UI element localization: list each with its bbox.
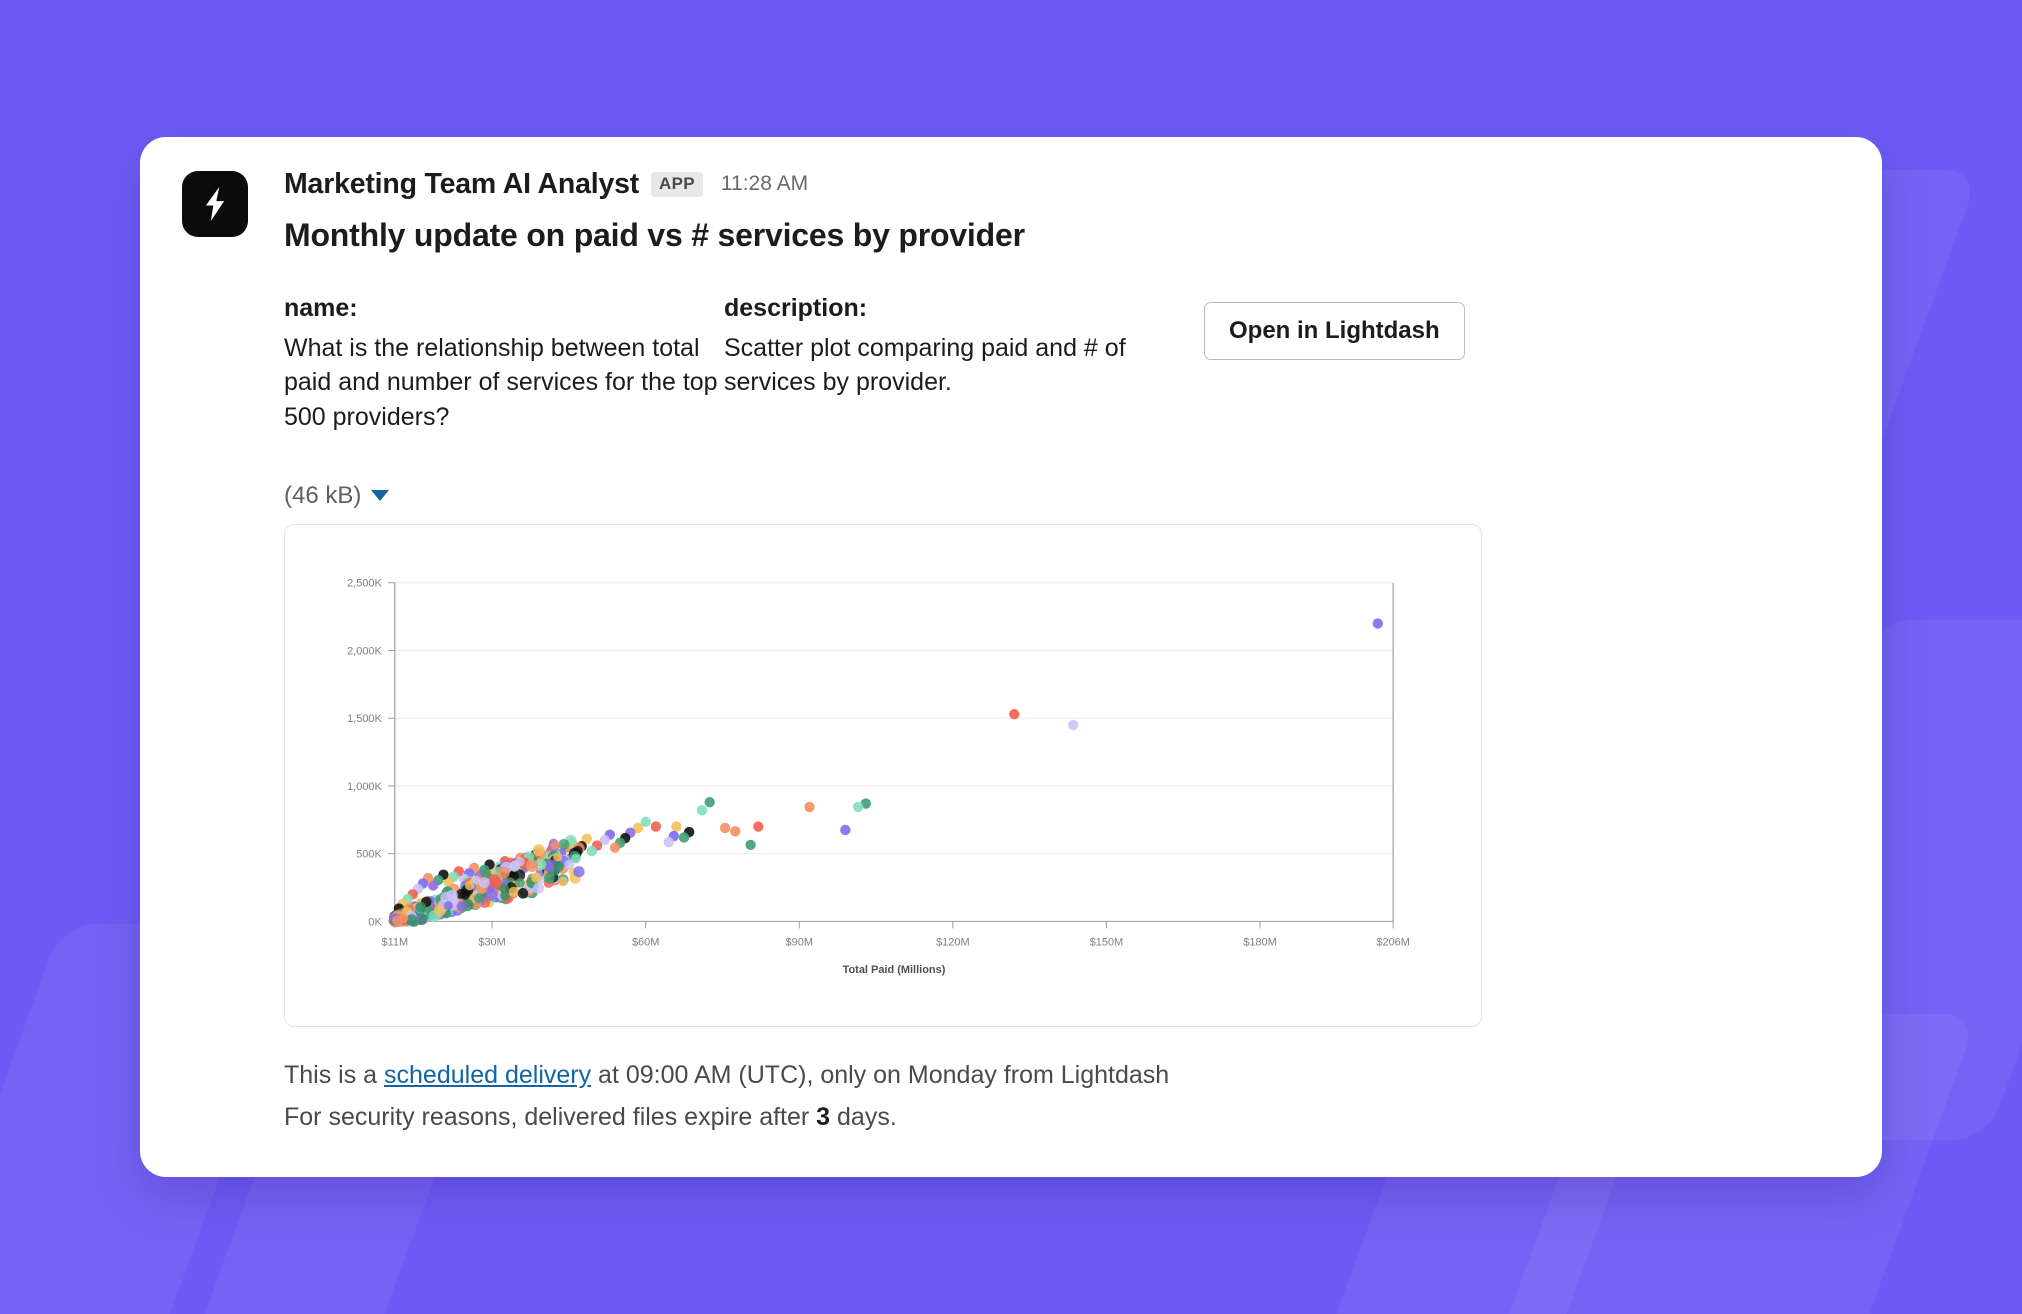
svg-text:$90M: $90M [786, 936, 813, 948]
message-timestamp[interactable]: 11:28 AM [721, 172, 808, 196]
message-body: Marketing Team AI Analyst APP 11:28 AM M… [284, 167, 2010, 1135]
footer-line-2: For security reasons, delivered files ex… [284, 1099, 2010, 1135]
open-in-lightdash-button[interactable]: Open in Lightdash [1204, 302, 1465, 360]
svg-text:$11M: $11M [382, 936, 409, 948]
chevron-down-icon[interactable] [371, 490, 389, 501]
footer-prefix: This is a [284, 1061, 384, 1089]
svg-text:$206M: $206M [1376, 936, 1410, 948]
svg-text:$30M: $30M [478, 936, 505, 948]
chart-attachment[interactable]: 0K500K1,000K1,500K2,000K2,500K$11M$30M$6… [284, 524, 1482, 1027]
footer-expiry-days: 3 [816, 1103, 830, 1131]
svg-text:$150M: $150M [1090, 936, 1124, 948]
fields-row: name: What is the relationship between t… [284, 294, 2010, 434]
field-name-value: What is the relationship between total p… [284, 331, 724, 434]
footer-suffix: at 09:00 AM (UTC), only on Monday from L… [591, 1061, 1169, 1089]
svg-text:$120M: $120M [936, 936, 970, 948]
app-badge: APP [651, 172, 703, 197]
footer-expiry-suffix: days. [830, 1103, 897, 1131]
footer-expiry-prefix: For security reasons, delivered files ex… [284, 1103, 816, 1131]
svg-text:1,000K: 1,000K [347, 781, 382, 793]
scatter-plot: 0K500K1,000K1,500K2,000K2,500K$11M$30M$6… [285, 525, 1481, 1026]
slack-message-card: Marketing Team AI Analyst APP 11:28 AM M… [140, 137, 1882, 1177]
attachment-toggle-row: (46 kB) [284, 482, 2010, 510]
actions: Open in Lightdash [1204, 294, 2010, 360]
field-description-label: description: [724, 294, 1204, 323]
field-description: description: Scatter plot comparing paid… [724, 294, 1204, 400]
field-description-value: Scatter plot comparing paid and # of ser… [724, 331, 1204, 400]
svg-text:500K: 500K [356, 848, 382, 860]
svg-text:$180M: $180M [1243, 936, 1277, 948]
field-name: name: What is the relationship between t… [284, 294, 724, 434]
field-name-label: name: [284, 294, 724, 323]
svg-text:2,000K: 2,000K [347, 645, 382, 657]
svg-text:0K: 0K [368, 916, 382, 928]
lightning-bolt-icon [200, 187, 230, 221]
scheduled-delivery-link[interactable]: scheduled delivery [384, 1061, 591, 1089]
author-name[interactable]: Marketing Team AI Analyst [284, 168, 639, 201]
author-line: Marketing Team AI Analyst APP 11:28 AM [284, 167, 2010, 201]
footer-line-1: This is a scheduled delivery at 09:00 AM… [284, 1057, 2010, 1093]
chart-canvas: 0K500K1,000K1,500K2,000K2,500K$11M$30M$6… [285, 525, 1481, 1026]
page-title: Monthly update on paid vs # services by … [284, 217, 2010, 254]
attachment-filesize: (46 kB) [284, 482, 361, 510]
avatar [182, 171, 248, 237]
message-header: Marketing Team AI Analyst APP 11:28 AM M… [182, 167, 1840, 1135]
svg-text:Total Paid (Millions): Total Paid (Millions) [843, 964, 946, 976]
svg-text:1,500K: 1,500K [347, 713, 382, 725]
svg-text:$60M: $60M [632, 936, 659, 948]
svg-text:2,500K: 2,500K [347, 578, 382, 590]
